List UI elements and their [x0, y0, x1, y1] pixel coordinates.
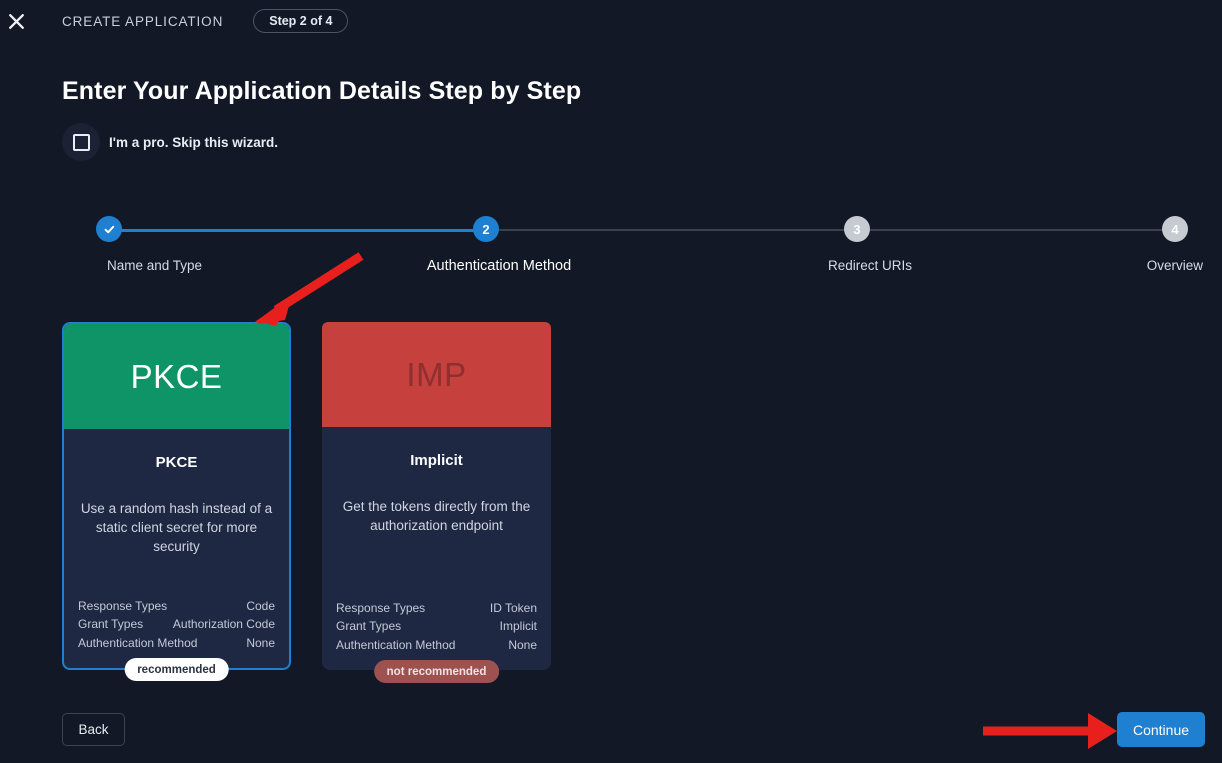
page-title: Enter Your Application Details Step by S… — [62, 77, 581, 106]
detail-row: Authentication Method None — [78, 634, 275, 653]
checkbox-box[interactable] — [73, 134, 90, 151]
step-2-label: Authentication Method — [427, 258, 571, 274]
detail-row: Response Types Code — [78, 597, 275, 616]
breadcrumb: CREATE APPLICATION — [62, 14, 223, 29]
pkce-card-details: Response Types Code Grant Types Authoriz… — [78, 597, 275, 653]
detail-row: Response Types ID Token — [336, 599, 537, 618]
detail-value: Code — [246, 597, 275, 616]
step-3-label: Redirect URIs — [828, 258, 912, 273]
auth-method-card-implicit[interactable]: IMP Implicit Get the tokens directly fro… — [322, 322, 551, 670]
arrow-to-continue-button — [983, 713, 1117, 749]
detail-key: Grant Types — [336, 617, 401, 636]
detail-value: Implicit — [500, 617, 537, 636]
detail-key: Response Types — [78, 597, 167, 616]
auth-method-card-pkce[interactable]: PKCE PKCE Use a random hash instead of a… — [62, 322, 291, 670]
wizard-header: CREATE APPLICATION Step 2 of 4 — [0, 0, 1222, 42]
close-icon[interactable] — [2, 7, 30, 35]
stepper-step-2[interactable]: 2 Authentication Method — [486, 216, 512, 242]
implicit-not-recommended-badge: not recommended — [374, 660, 500, 683]
skip-wizard-label: I'm a pro. Skip this wizard. — [109, 135, 278, 150]
implicit-card-details: Response Types ID Token Grant Types Impl… — [336, 599, 537, 655]
back-button[interactable]: Back — [62, 713, 125, 746]
stepper-step-3[interactable]: 3 Redirect URIs — [857, 216, 883, 242]
step-2-bubble[interactable]: 2 — [473, 216, 499, 242]
stepper-step-4[interactable]: 4 Overview — [1175, 216, 1201, 242]
implicit-card-body: Implicit Get the tokens directly from th… — [322, 427, 551, 670]
implicit-card-abbr: IMP — [322, 322, 551, 427]
detail-row: Authentication Method None — [336, 636, 537, 655]
wizard-stepper: Name and Type 2 Authentication Method 3 … — [62, 216, 1192, 278]
stepper-track-2-3 — [486, 229, 858, 231]
step-badge: Step 2 of 4 — [253, 9, 348, 33]
create-application-wizard: CREATE APPLICATION Step 2 of 4 Enter You… — [0, 0, 1222, 763]
detail-value: None — [246, 634, 275, 653]
skip-wizard-checkbox[interactable]: I'm a pro. Skip this wizard. — [62, 123, 278, 161]
implicit-card-title: Implicit — [336, 452, 537, 469]
detail-key: Authentication Method — [78, 634, 197, 653]
pkce-card-description: Use a random hash instead of a static cl… — [78, 499, 275, 556]
detail-key: Response Types — [336, 599, 425, 618]
stepper-track-3-4 — [857, 229, 1175, 231]
step-1-label: Name and Type — [107, 258, 202, 273]
pkce-card-body: PKCE Use a random hash instead of a stat… — [64, 429, 289, 668]
pkce-card-abbr: PKCE — [64, 324, 289, 429]
detail-row: Grant Types Authorization Code — [78, 615, 275, 634]
implicit-card-description: Get the tokens directly from the authori… — [336, 497, 537, 535]
pkce-recommended-badge: recommended — [124, 658, 229, 681]
auth-method-card-list: PKCE PKCE Use a random hash instead of a… — [62, 322, 551, 670]
detail-value: Authorization Code — [173, 615, 275, 634]
step-1-bubble[interactable] — [96, 216, 122, 242]
checkbox-hit-area[interactable] — [62, 123, 100, 161]
step-3-bubble[interactable]: 3 — [844, 216, 870, 242]
continue-button[interactable]: Continue — [1117, 712, 1205, 747]
step-4-label: Overview — [1147, 258, 1203, 273]
stepper-step-1[interactable]: Name and Type — [109, 216, 135, 242]
step-4-bubble[interactable]: 4 — [1162, 216, 1188, 242]
detail-key: Authentication Method — [336, 636, 455, 655]
detail-key: Grant Types — [78, 615, 143, 634]
detail-row: Grant Types Implicit — [336, 617, 537, 636]
detail-value: None — [508, 636, 537, 655]
pkce-card-title: PKCE — [78, 454, 275, 471]
detail-value: ID Token — [490, 599, 537, 618]
stepper-track-1-2 — [109, 229, 486, 232]
check-icon — [103, 223, 116, 236]
